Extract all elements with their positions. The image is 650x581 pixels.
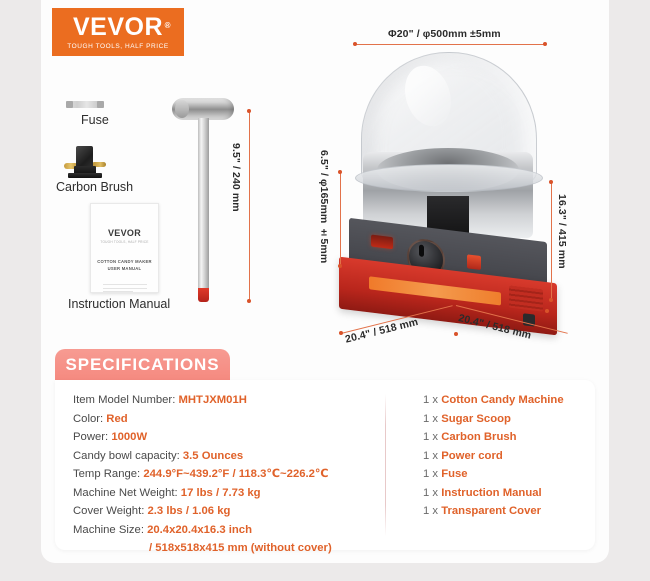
package-row: 1 x Fuse xyxy=(423,465,623,484)
package-row: 1 x Carbon Brush xyxy=(423,428,623,447)
accessory-label-fuse: Fuse xyxy=(81,113,109,127)
spec-value: 20.4x20.4x16.3 inch xyxy=(147,524,252,536)
spec-value-continuation: / 518x518x415 mm (without cover) xyxy=(73,539,373,558)
spec-row: Candy bowl capacity: 3.5 Ounces xyxy=(73,447,373,466)
spec-row: Power: 1000W xyxy=(73,428,373,447)
package-row: 1 x Power cord xyxy=(423,447,623,466)
spec-row: Cover Weight: 2.3 lbs / 1.06 kg xyxy=(73,502,373,521)
package-qty: 1 x xyxy=(423,505,438,517)
package-qty: 1 x xyxy=(423,468,438,480)
dimension-scoop-length: 9.5" / 240 mm xyxy=(230,143,242,212)
scoop-head xyxy=(172,98,234,120)
specifications-list: Item Model Number: MHTJXM01H Color: Red … xyxy=(73,391,373,558)
brand-tagline: TOUGH TOOLS, HALF PRICE xyxy=(67,43,169,50)
accessory-label-carbon-brush: Carbon Brush xyxy=(56,180,133,194)
carbon-brush-image xyxy=(62,146,108,180)
package-qty: 1 x xyxy=(423,487,438,499)
package-qty: 1 x xyxy=(423,413,438,425)
package-item: Carbon Brush xyxy=(441,431,516,443)
column-divider xyxy=(385,394,386,536)
package-row: 1 x Sugar Scoop xyxy=(423,410,623,429)
spec-label: Machine Net Weight: xyxy=(73,487,178,499)
package-qty: 1 x xyxy=(423,431,438,443)
package-item: Sugar Scoop xyxy=(441,413,511,425)
dome-rim xyxy=(355,164,543,192)
cotton-candy-machine-image xyxy=(333,52,563,337)
dimension-dome-diameter: Φ20" / φ500mm ±5mm xyxy=(388,28,501,40)
package-row: 1 x Transparent Cover xyxy=(423,502,623,521)
dimension-line-bowl-depth xyxy=(340,172,341,266)
package-row: 1 x Cotton Candy Machine xyxy=(423,391,623,410)
dimension-line-total-height xyxy=(551,182,552,300)
brand-name: VEVOR® xyxy=(73,15,163,40)
spec-label: Power: xyxy=(73,431,108,443)
scoop-tip xyxy=(198,288,209,302)
spec-label: Temp Range: xyxy=(73,468,140,480)
fuse-image xyxy=(66,101,104,108)
base-decal xyxy=(369,276,501,305)
spec-value: 244.9°F~439.2°F / 118.3℃~226.2℃ xyxy=(143,468,328,480)
dimension-dot xyxy=(454,332,458,336)
package-contents-list: 1 x Cotton Candy Machine 1 x Sugar Scoop… xyxy=(423,391,623,521)
scoop-rod xyxy=(198,118,209,298)
package-item: Power cord xyxy=(441,450,503,462)
dome-highlight xyxy=(397,60,458,133)
dimension-bowl-depth: 6.5" / φ165mm ±5mm xyxy=(318,150,330,263)
temperature-display xyxy=(371,235,393,250)
manual-brand: VEVOR xyxy=(108,228,141,238)
manual-subtitle: USER MANUAL xyxy=(108,266,142,272)
vevor-logo: VEVOR® TOUGH TOOLS, HALF PRICE xyxy=(52,8,184,56)
dimension-dot xyxy=(549,298,553,302)
dimension-total-height: 16.3" / 415 mm xyxy=(556,194,568,269)
spec-value: 3.5 Ounces xyxy=(183,450,243,462)
dimension-line-dome-diameter xyxy=(355,44,545,45)
instruction-manual-image: VEVOR TOUGH TOOLS, HALF PRICE COTTON CAN… xyxy=(90,203,159,293)
spec-value: Red xyxy=(106,413,127,425)
spec-value: MHTJXM01H xyxy=(178,394,246,406)
power-switch[interactable] xyxy=(467,254,481,270)
manual-title: COTTON CANDY MAKER xyxy=(97,259,152,265)
base-vent xyxy=(509,285,543,311)
spec-value: 1000W xyxy=(111,431,147,443)
dimension-dot xyxy=(549,180,553,184)
package-qty: 1 x xyxy=(423,394,438,406)
dimension-dot xyxy=(338,264,342,268)
spec-label: Cover Weight: xyxy=(73,505,144,517)
dimension-dot xyxy=(353,42,357,46)
spec-row: Machine Net Weight: 17 lbs / 7.73 kg xyxy=(73,484,373,503)
manual-tagline: TOUGH TOOLS, HALF PRICE xyxy=(100,240,148,244)
spec-label: Machine Size: xyxy=(73,524,144,536)
spec-label: Item Model Number: xyxy=(73,394,175,406)
brush-base xyxy=(68,173,102,178)
specifications-tab: SPECIFICATIONS xyxy=(55,349,230,380)
spec-row: Machine Size: 20.4x20.4x16.3 inch xyxy=(73,521,373,540)
dimension-dot xyxy=(543,42,547,46)
spec-row: Color: Red xyxy=(73,410,373,429)
dimension-dot xyxy=(247,109,251,113)
product-spec-page: VEVOR® TOUGH TOOLS, HALF PRICE Fuse Carb… xyxy=(0,0,650,581)
spec-value: 2.3 lbs / 1.06 kg xyxy=(148,505,231,517)
package-item: Instruction Manual xyxy=(441,487,541,499)
package-item: Fuse xyxy=(441,468,467,480)
spec-label: Candy bowl capacity: xyxy=(73,450,180,462)
dimension-line-scoop xyxy=(249,111,250,301)
spec-value: 17 lbs / 7.73 kg xyxy=(181,487,261,499)
dimension-dot xyxy=(545,309,549,313)
dimension-dot xyxy=(338,170,342,174)
package-item: Cotton Candy Machine xyxy=(441,394,563,406)
package-qty: 1 x xyxy=(423,450,438,462)
specifications-panel: Item Model Number: MHTJXM01H Color: Red … xyxy=(55,380,595,550)
spec-row: Item Model Number: MHTJXM01H xyxy=(73,391,373,410)
registered-mark: ® xyxy=(165,13,171,38)
package-item: Transparent Cover xyxy=(441,505,541,517)
sugar-scoop-image xyxy=(172,98,234,303)
package-row: 1 x Instruction Manual xyxy=(423,484,623,503)
specifications-heading: SPECIFICATIONS xyxy=(66,355,220,375)
accessory-label-instruction-manual: Instruction Manual xyxy=(68,297,170,311)
dimension-dot xyxy=(247,299,251,303)
spec-label: Color: xyxy=(73,413,103,425)
spec-row: Temp Range: 244.9°F~439.2°F / 118.3℃~226… xyxy=(73,465,373,484)
dimension-dot xyxy=(339,331,343,335)
manual-text-lines xyxy=(103,284,147,295)
